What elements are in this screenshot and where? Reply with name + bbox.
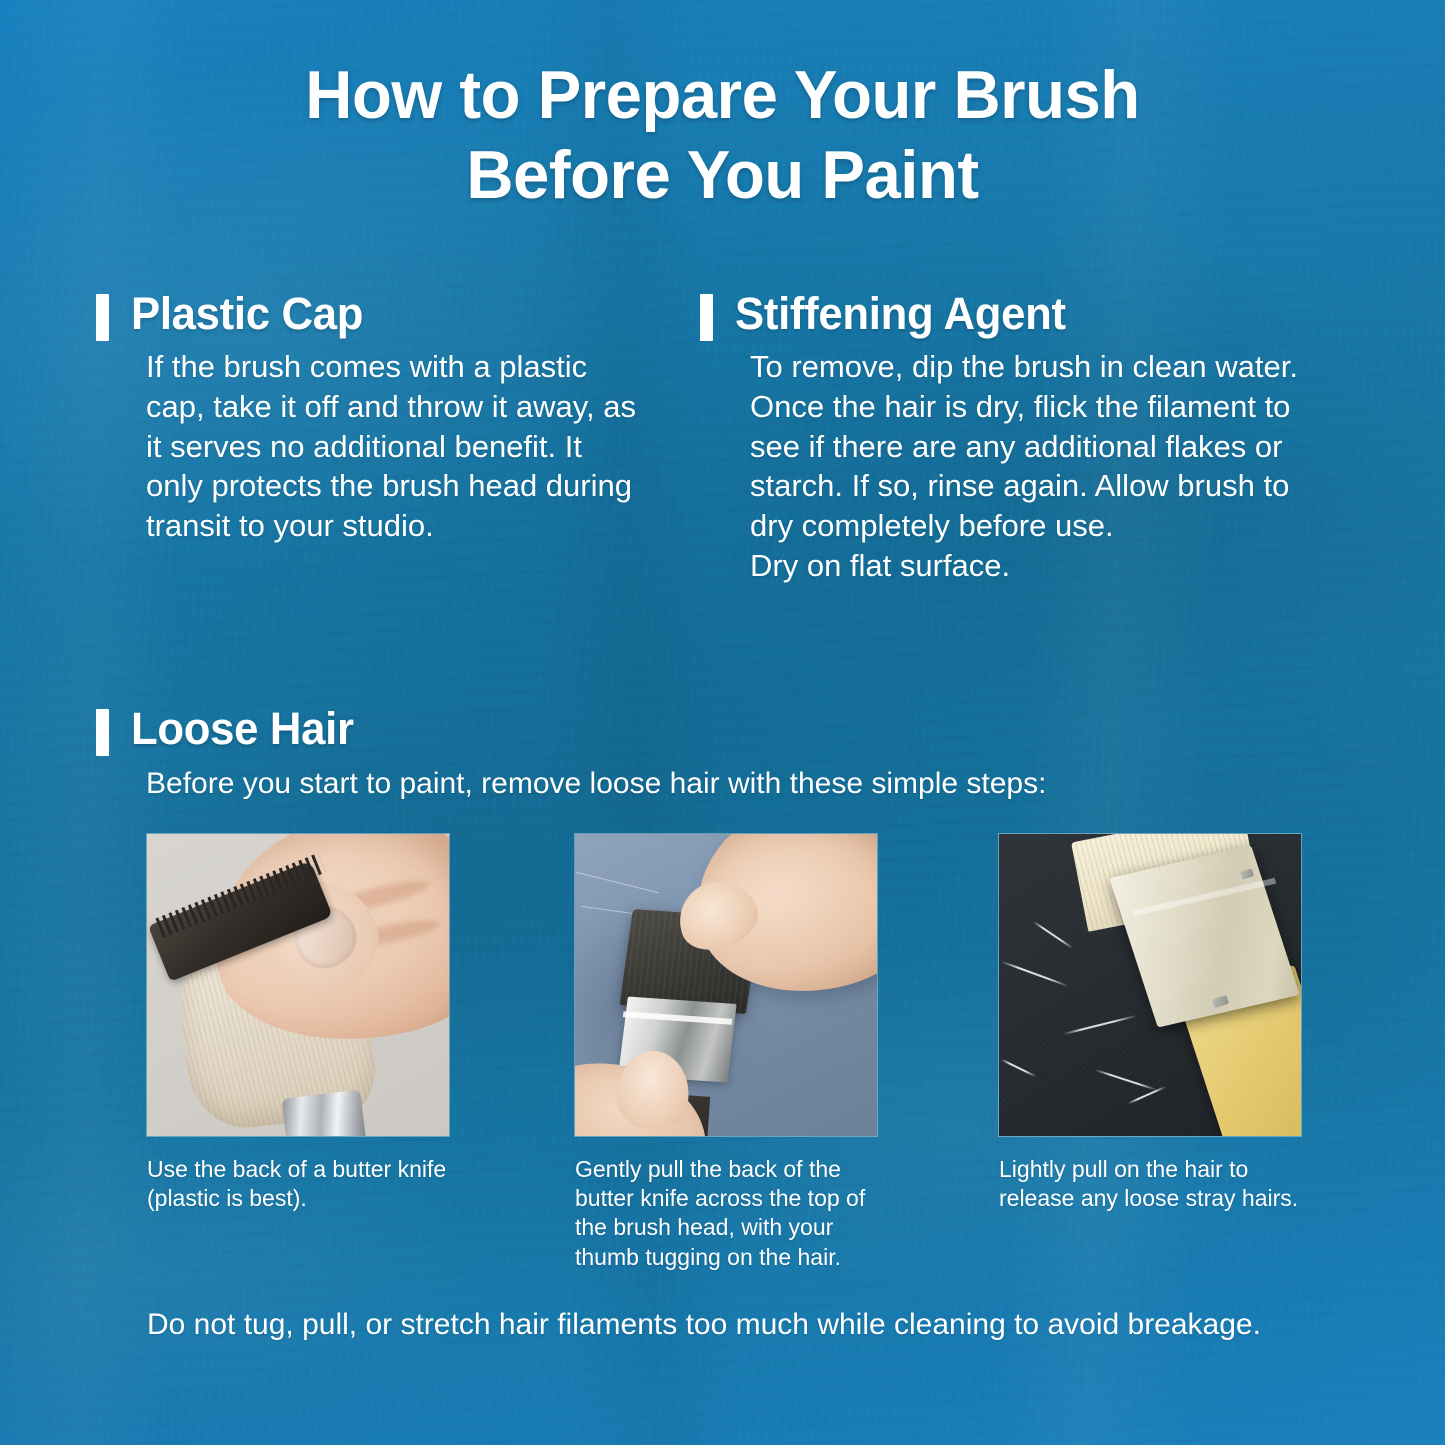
section-heading-row: Loose Hair xyxy=(96,705,1351,756)
page-title-line-1: How to Prepare Your Brush xyxy=(29,55,1416,135)
accent-bar-icon xyxy=(96,294,109,341)
section-body-stiffening-agent: To remove, dip the brush in clean water.… xyxy=(700,347,1340,586)
step-caption-2: Gently pull the back of the butter knife… xyxy=(575,1155,877,1272)
step-caption-3: Lightly pull on the hair to release any … xyxy=(999,1155,1301,1213)
steps-row: Use the back of a butter knife (plastic … xyxy=(147,834,1304,1272)
section-heading-row: Plastic Cap xyxy=(96,290,636,341)
content-layer: How to Prepare Your Brush Before You Pai… xyxy=(0,0,1445,1445)
section-stiffening-agent: Stiffening Agent To remove, dip the brus… xyxy=(700,290,1340,586)
footer-warning-text: Do not tug, pull, or stretch hair filame… xyxy=(147,1305,1337,1345)
loose-hair-intro-text: Before you start to paint, remove loose … xyxy=(96,764,1351,803)
section-heading-stiffening-agent: Stiffening Agent xyxy=(735,290,1066,337)
step-photo-2 xyxy=(575,834,877,1136)
section-body-plastic-cap: If the brush comes with a plastic cap, t… xyxy=(96,347,636,546)
step-item-3: Lightly pull on the hair to release any … xyxy=(999,834,1301,1272)
section-heading-plastic-cap: Plastic Cap xyxy=(131,290,363,337)
page-title-line-2: Before You Paint xyxy=(29,135,1416,215)
accent-bar-icon xyxy=(700,294,713,341)
stray-hair-shape xyxy=(576,872,658,893)
step-caption-1: Use the back of a butter knife (plastic … xyxy=(147,1155,449,1213)
step-photo-1 xyxy=(147,834,449,1136)
page-title: How to Prepare Your Brush Before You Pai… xyxy=(29,55,1416,215)
section-plastic-cap: Plastic Cap If the brush comes with a pl… xyxy=(96,290,636,546)
accent-bar-icon xyxy=(96,709,109,756)
section-heading-loose-hair: Loose Hair xyxy=(131,705,354,752)
section-heading-row: Stiffening Agent xyxy=(700,290,1340,341)
step-item-1: Use the back of a butter knife (plastic … xyxy=(147,834,449,1272)
step-photo-3 xyxy=(999,834,1301,1136)
step-item-2: Gently pull the back of the butter knife… xyxy=(575,834,877,1272)
infographic-page: How to Prepare Your Brush Before You Pai… xyxy=(0,0,1445,1445)
section-loose-hair: Loose Hair Before you start to paint, re… xyxy=(96,705,1351,803)
